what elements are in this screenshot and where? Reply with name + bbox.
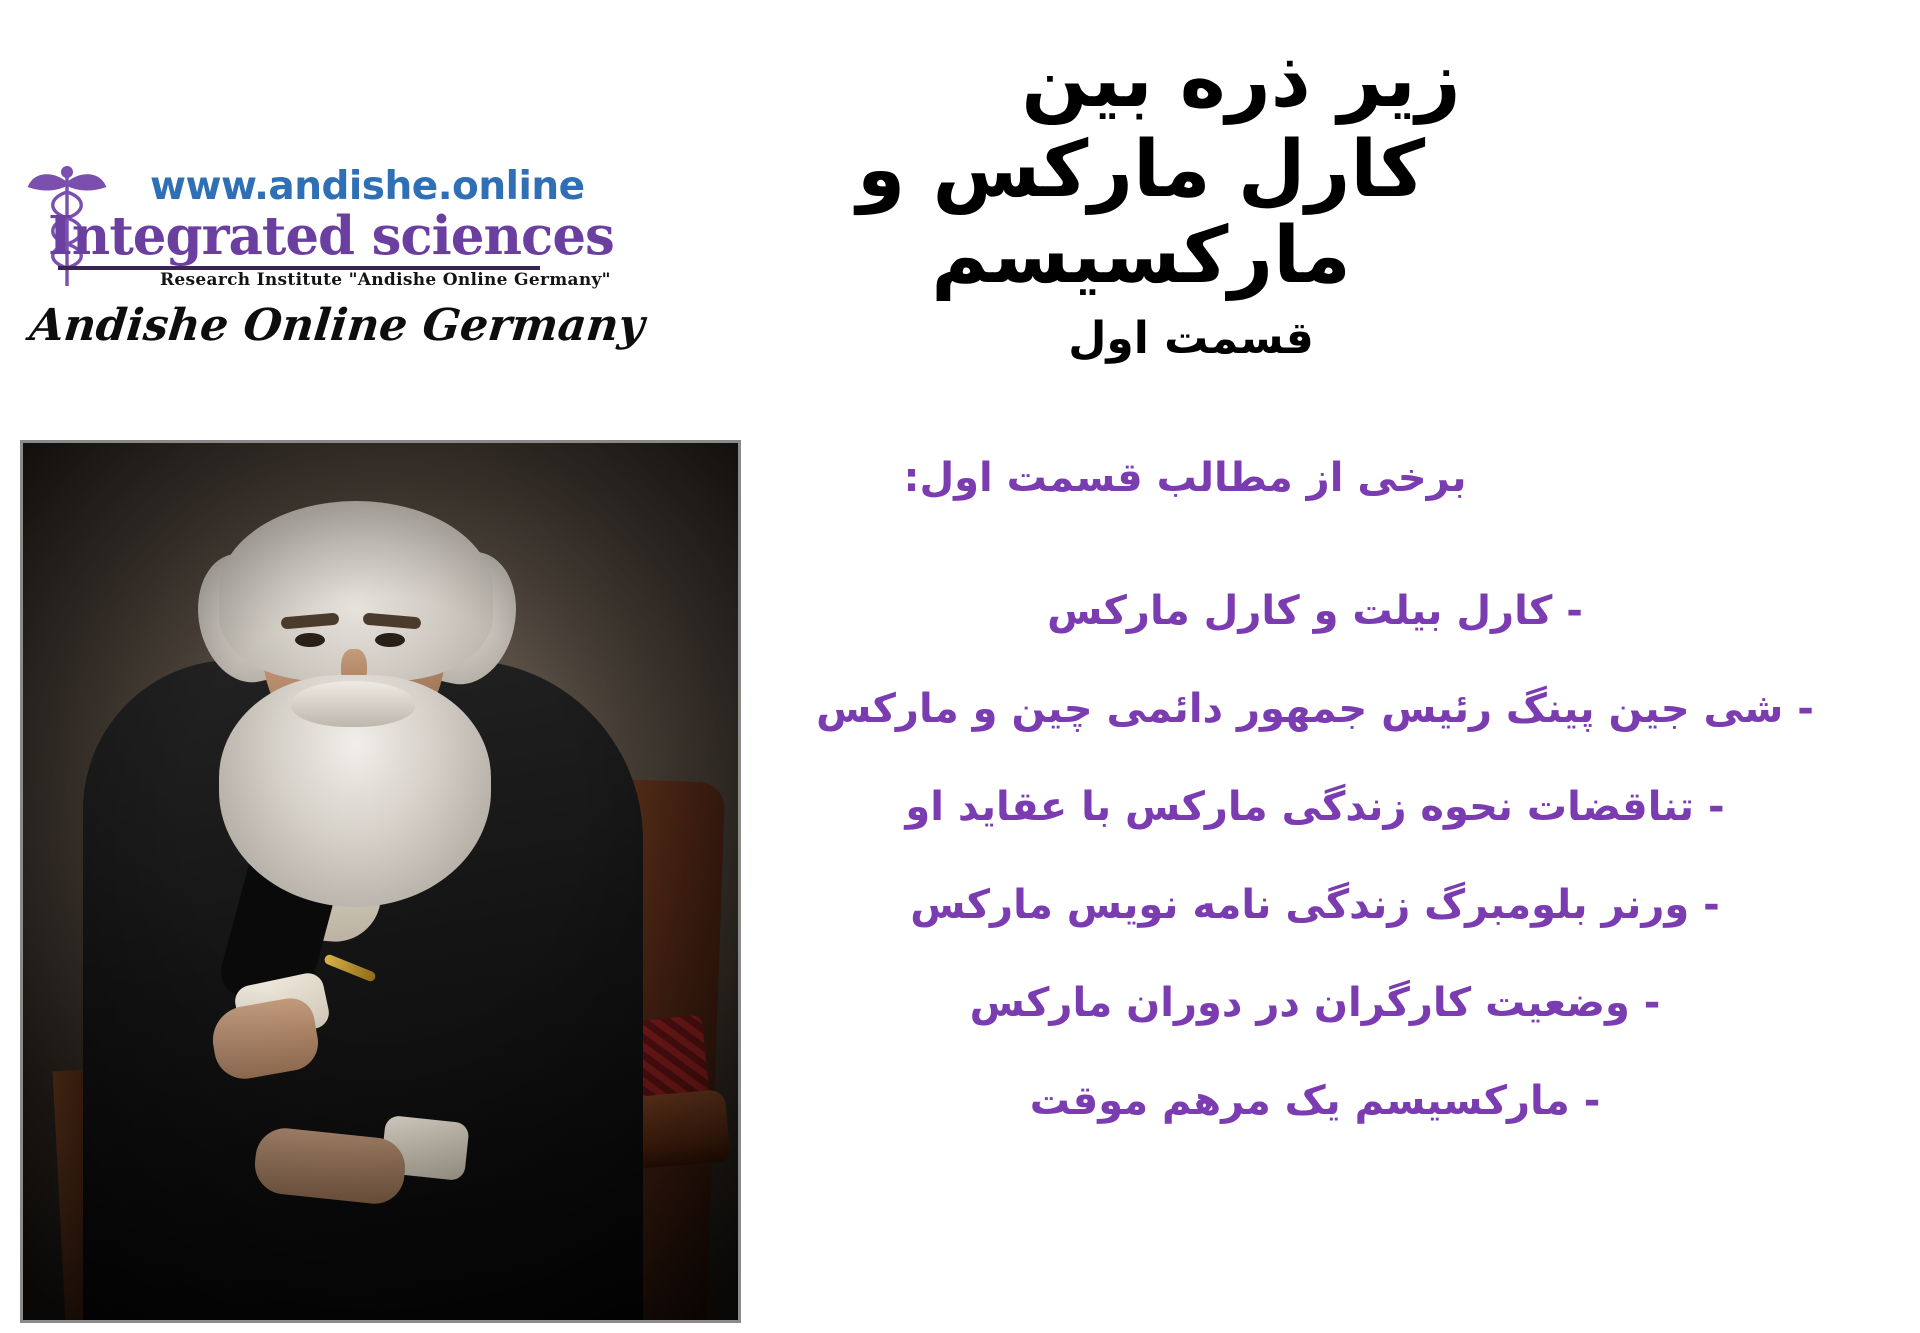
- title-line-1: زیر ذره بین: [716, 40, 1896, 122]
- list-item: - شی جین پینگ رئیس جمهور دائمی چین و مار…: [750, 689, 1880, 729]
- logo-title: Integrated sciences: [48, 205, 548, 267]
- logo-script-name: Andishe Online Germany: [27, 300, 532, 351]
- list-item: - ورنر بلومبرگ زندگی نامه نویس مارکس: [750, 885, 1880, 925]
- logo-subtitle: Research Institute "Andishe Online Germa…: [160, 270, 560, 290]
- list-item: - تناقضات نحوه زندگی مارکس با عقاید او: [750, 787, 1880, 827]
- slide-canvas: www.andishe.online Integrated sciences R…: [0, 0, 1920, 1333]
- content-group: برخی از مطالب قسمت اول: - کارل بیلت و کا…: [750, 455, 1880, 1179]
- brand-logo: www.andishe.online Integrated sciences R…: [10, 150, 550, 370]
- list-item: - وضعیت کارگران در دوران مارکس: [750, 983, 1880, 1023]
- title-group: زیر ذره بین کارل مارکس و مارکسیسم قسمت ا…: [716, 40, 1896, 364]
- list-item: - کارل بیلت و کارل مارکس: [750, 591, 1880, 631]
- logo-website-url[interactable]: www.andishe.online: [150, 164, 550, 209]
- title-line-2: کارل مارکس و مارکسیسم: [716, 128, 1896, 300]
- list-item: - مارکسیسم یک مرهم موقت: [750, 1081, 1880, 1121]
- karl-marx-portrait-image: [20, 440, 741, 1323]
- portrait-vignette: [23, 443, 738, 1320]
- content-heading: برخی از مطالب قسمت اول:: [750, 455, 1880, 501]
- content-list: - کارل بیلت و کارل مارکس - شی جین پینگ ر…: [750, 591, 1880, 1121]
- title-part-label: قسمت اول: [716, 313, 1896, 364]
